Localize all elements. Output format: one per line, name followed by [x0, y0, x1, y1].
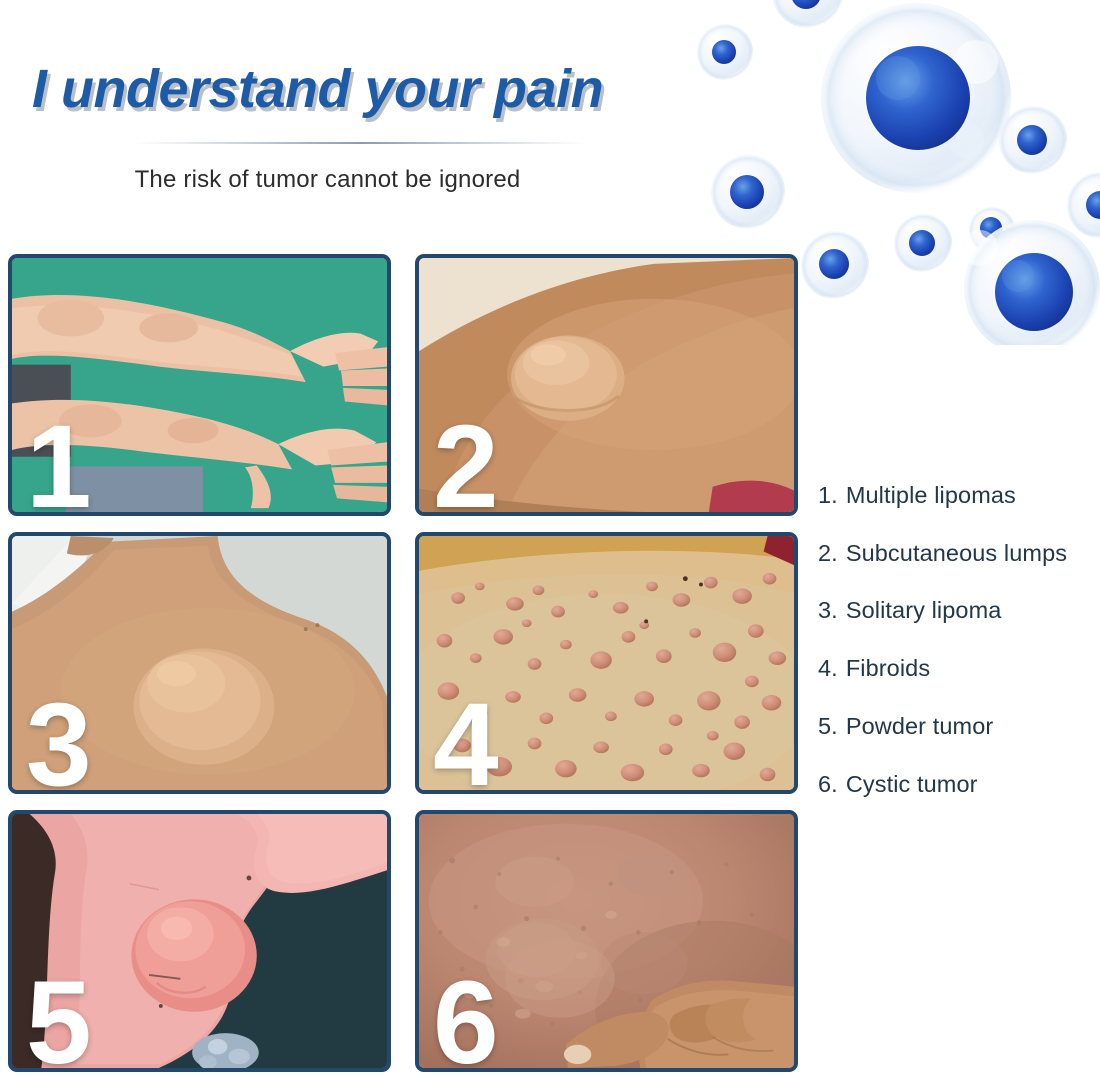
list-item-index: 2.: [818, 540, 838, 568]
photo-panel-4[interactable]: 4: [415, 532, 798, 794]
cell-large-secondary: [962, 220, 1100, 345]
header: I understand your pain The risk of tumor…: [0, 0, 720, 194]
panel-number: 4: [433, 686, 499, 794]
list-item-index: 1.: [818, 482, 838, 510]
list-item: 5. Powder tumor: [818, 713, 1090, 741]
panel-number: 2: [433, 408, 499, 516]
panel-number: 6: [433, 964, 499, 1072]
list-item: 6. Cystic tumor: [818, 771, 1090, 799]
photo-panel-3[interactable]: 3: [8, 532, 391, 794]
cell-large: [821, 3, 1011, 193]
panel-number: 1: [26, 408, 92, 516]
page-subtitle: The risk of tumor cannot be ignored: [0, 166, 655, 194]
panel-number: 3: [26, 686, 92, 794]
photo-panel-5[interactable]: 5: [8, 810, 391, 1072]
list-item-label: Cystic tumor: [846, 771, 1090, 799]
panel-number: 5: [26, 964, 92, 1072]
photo-panel-1[interactable]: 1: [8, 254, 391, 516]
condition-photo-grid: 1 2: [8, 254, 798, 1072]
list-item: 3. Solitary lipoma: [818, 597, 1090, 625]
list-item-label: Solitary lipoma: [846, 597, 1090, 625]
list-item: 2. Subcutaneous lumps: [818, 540, 1090, 568]
list-item-label: Powder tumor: [846, 713, 1090, 741]
list-item-label: Subcutaneous lumps: [846, 540, 1090, 568]
list-item-index: 6.: [818, 771, 838, 799]
condition-list: 1. Multiple lipomas 2. Subcutaneous lump…: [818, 482, 1090, 828]
title-divider: [133, 142, 588, 144]
page-title: I understand your pain: [0, 0, 720, 120]
list-item-index: 5.: [818, 713, 838, 741]
photo-panel-2[interactable]: 2: [415, 254, 798, 516]
list-item-index: 4.: [818, 655, 838, 683]
photo-panel-6[interactable]: 6: [415, 810, 798, 1072]
list-item: 1. Multiple lipomas: [818, 482, 1090, 510]
list-item-index: 3.: [818, 597, 838, 625]
list-item: 4. Fibroids: [818, 655, 1090, 683]
list-item-label: Multiple lipomas: [846, 482, 1090, 510]
list-item-label: Fibroids: [846, 655, 1090, 683]
